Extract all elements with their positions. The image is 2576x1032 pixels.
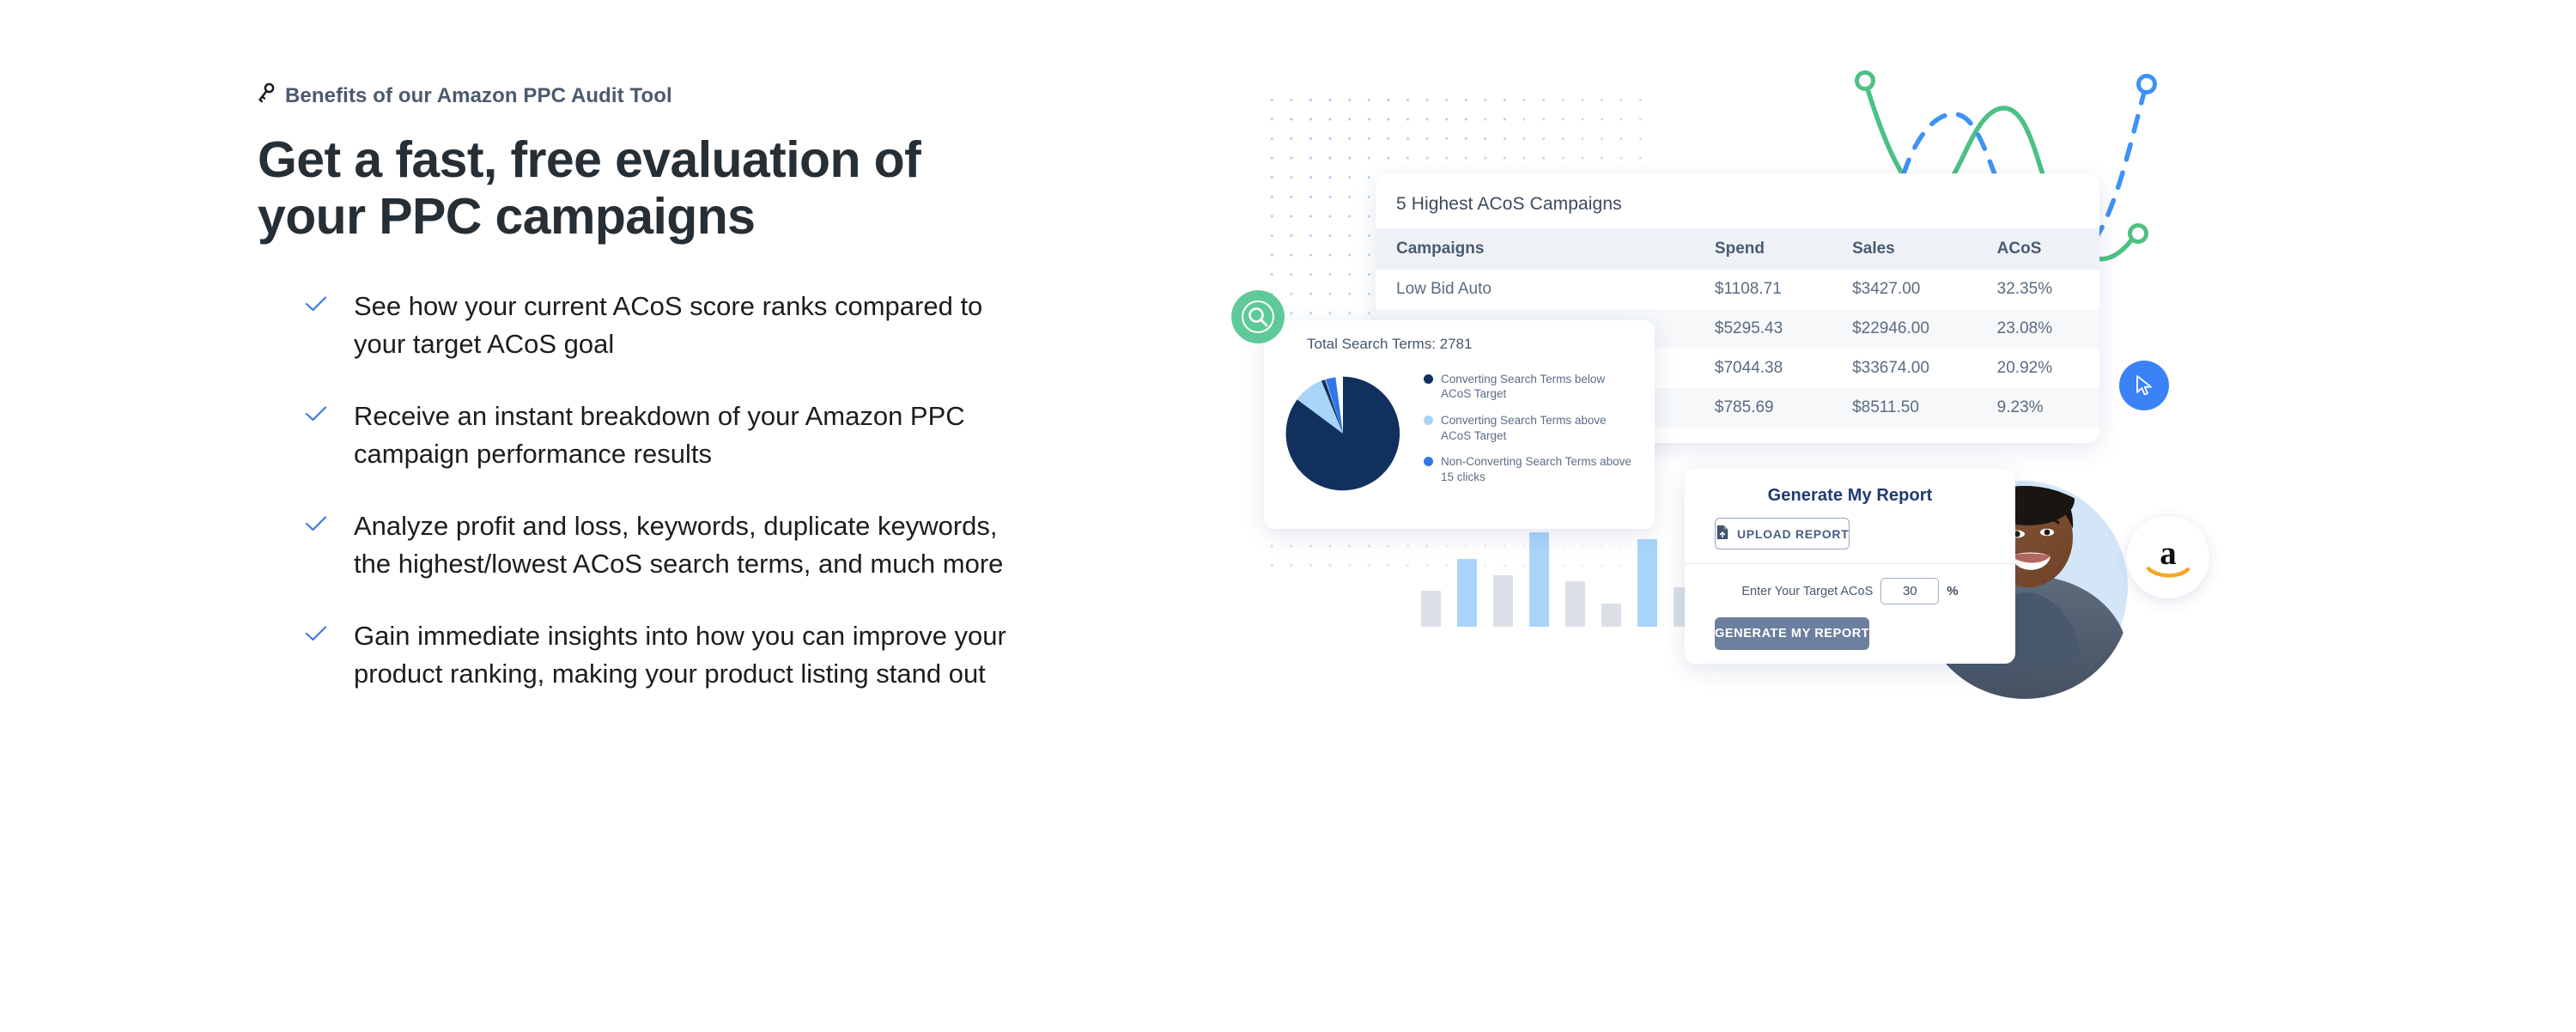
card-title: 5 Highest ACoS Campaigns [1376,191,2099,228]
cell-spend: $5295.43 [1694,309,1832,349]
column-header-spend: Spend [1694,228,1832,270]
cell-spend: $785.69 [1694,388,1832,428]
column-header-acos: ACoS [1977,228,2099,270]
bar [1637,539,1657,627]
bar [1457,559,1477,627]
svg-text:a: a [2160,535,2176,572]
check-icon [305,405,334,422]
cell-acos: 20.92% [1977,349,2099,388]
hero-illustration: 5 Highest ACoS Campaigns Campaigns Spend… [1245,52,2233,738]
legend-label: Converting Search Terms below ACoS Targe… [1441,372,1637,402]
target-acos-label: Enter Your Target ACoS [1741,585,1873,598]
generate-report-card: Generate My Report UPLOAD REPORT Enter Y… [1685,469,2015,664]
pie-chart [1281,360,1405,507]
check-icon [305,295,334,313]
legend-dot-icon [1424,457,1433,466]
cell-acos: 32.35% [1977,270,2099,309]
bar [1565,581,1585,627]
column-header-campaigns: Campaigns [1376,228,1694,270]
legend-dot-icon [1424,374,1433,384]
legend-item: Converting Search Terms above ACoS Targe… [1424,413,1637,443]
bar [1529,532,1549,627]
file-upload-icon [1716,525,1729,543]
amazon-logo-icon: a [2127,516,2209,598]
cell-sales: $22946.00 [1832,309,1977,349]
table-row: Low Bid Auto $1108.71 $3427.00 32.35% [1376,270,2099,309]
search-icon [1231,290,1285,343]
bar [1493,575,1513,628]
legend-label: Converting Search Terms above ACoS Targe… [1441,413,1637,443]
card-title: Total Search Terms: 2781 [1307,336,1637,353]
list-item-label: Gain immediate insights into how you can… [334,617,1030,693]
page-title: Get a fast, free evaluation of your PPC … [258,131,1030,245]
eyebrow-label: Benefits of our Amazon PPC Audit Tool [285,82,672,109]
list-item: Receive an instant breakdown of your Ama… [258,398,1073,473]
page-root: Benefits of our Amazon PPC Audit Tool Ge… [0,0,2576,1032]
list-item: See how your current ACoS score ranks co… [258,288,1073,363]
legend-item: Converting Search Terms below ACoS Targe… [1424,372,1637,402]
search-terms-card: Total Search Terms: 2781 Converting Sear… [1264,320,1655,529]
upload-report-button[interactable]: UPLOAD REPORT [1715,518,1850,549]
cursor-arrow-icon [2119,361,2169,410]
pie-chart-row: Converting Search Terms below ACoS Targe… [1281,360,1637,507]
cell-acos: 9.23% [1977,388,2099,428]
list-item: Analyze profit and loss, keywords, dupli… [258,507,1073,583]
column-header-sales: Sales [1832,228,1977,270]
list-item-label: Analyze profit and loss, keywords, dupli… [334,507,1030,583]
check-icon [305,625,334,642]
percent-symbol: % [1947,584,1958,598]
eyebrow: Benefits of our Amazon PPC Audit Tool [258,82,1073,109]
card-title: Generate My Report [1685,486,2015,506]
cell-sales: $33674.00 [1832,349,1977,388]
check-icon [305,515,334,532]
target-acos-input[interactable] [1880,578,1939,604]
legend-dot-icon [1424,416,1433,425]
legend-item: Non-Converting Search Terms above 15 cli… [1424,454,1637,484]
table-header-row: Campaigns Spend Sales ACoS [1376,228,2099,270]
key-icon [258,82,276,105]
benefits-list: See how your current ACoS score ranks co… [258,288,1073,693]
list-item-label: Receive an instant breakdown of your Ama… [334,398,1030,473]
cell-spend: $1108.71 [1694,270,1832,309]
generate-report-label: GENERATE MY REPORT [1715,627,1869,640]
legend-label: Non-Converting Search Terms above 15 cli… [1441,454,1637,484]
pie-legend: Converting Search Terms below ACoS Targe… [1424,372,1637,495]
upload-report-label: UPLOAD REPORT [1737,527,1849,541]
divider [1685,563,2015,564]
bar [1421,591,1441,627]
content-column: Benefits of our Amazon PPC Audit Tool Ge… [258,82,1073,727]
target-acos-row: Enter Your Target ACoS % [1685,578,2015,604]
cell-spend: $7044.38 [1694,349,1832,388]
generate-report-button[interactable]: GENERATE MY REPORT [1715,617,1869,650]
list-item: Gain immediate insights into how you can… [258,617,1073,693]
cell-sales: $8511.50 [1832,388,1977,428]
cell-campaign: Low Bid Auto [1376,270,1694,309]
bar [1601,604,1621,628]
list-item-label: See how your current ACoS score ranks co… [334,288,1030,363]
cell-sales: $3427.00 [1832,270,1977,309]
cell-acos: 23.08% [1977,309,2099,349]
